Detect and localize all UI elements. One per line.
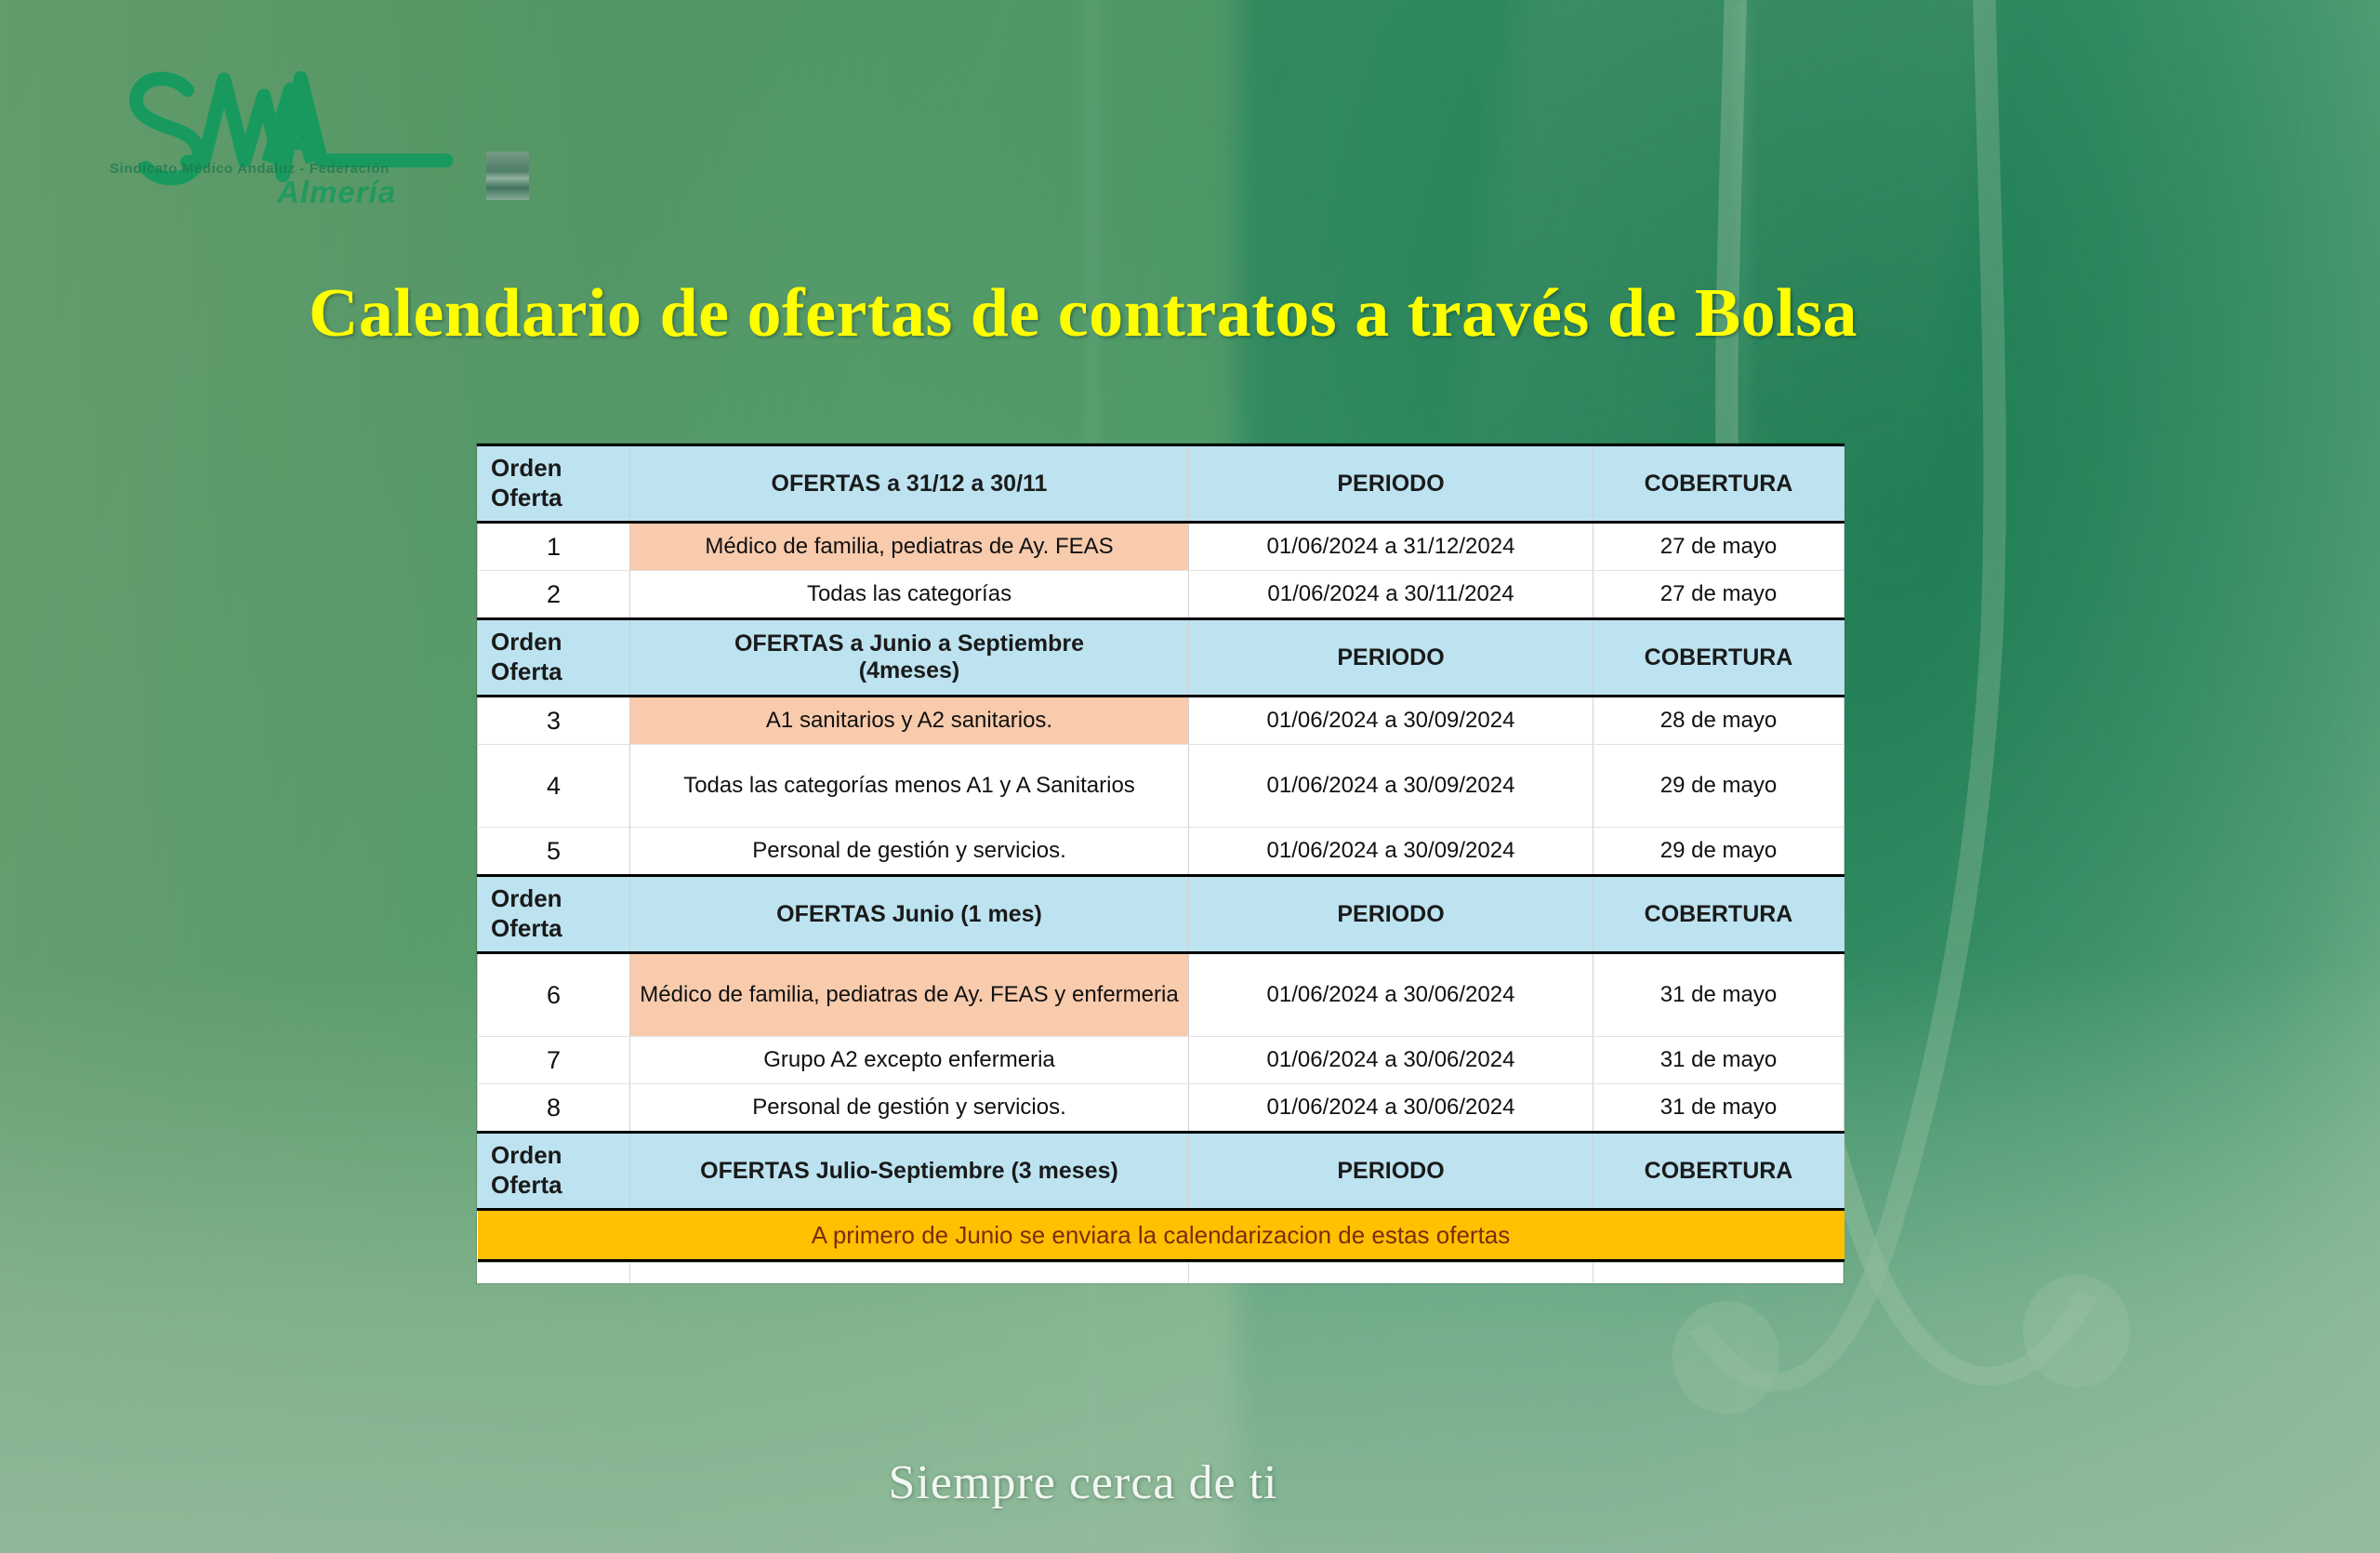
header-ofertas: OFERTAS Junio (1 mes): [630, 876, 1189, 953]
cell-periodo: 01/06/2024 a 30/06/2024: [1189, 953, 1593, 1037]
cell-oferta: Médico de familia, pediatras de Ay. FEAS: [630, 523, 1189, 571]
cell-cobertura: 29 de mayo: [1593, 745, 1844, 828]
notice-banner-text: A primero de Junio se enviara la calenda…: [478, 1210, 1844, 1261]
sma-logo: Sindicato Médico Andaluz - Federación Al…: [100, 51, 454, 214]
cell-oferta: Todas las categorías menos A1 y A Sanita…: [630, 745, 1189, 828]
orden-line1: Orden: [491, 884, 562, 912]
cell-oferta: Grupo A2 excepto enfermeria: [630, 1037, 1189, 1084]
table-bottom-strip: [477, 1262, 1844, 1283]
orden-line1: Orden: [491, 454, 562, 482]
table-row: 3 A1 sanitarios y A2 sanitarios. 01/06/2…: [478, 697, 1844, 745]
cell-orden: 6: [478, 953, 630, 1037]
cell-oferta: Personal de gestión y servicios.: [630, 1084, 1189, 1133]
header-ofertas: OFERTAS a 31/12 a 30/11: [630, 445, 1189, 523]
cell-orden: 8: [478, 1084, 630, 1133]
table-row: 8 Personal de gestión y servicios. 01/06…: [478, 1084, 1844, 1133]
table-row: 2 Todas las categorías 01/06/2024 a 30/1…: [478, 571, 1844, 619]
strip-cell: [477, 1263, 630, 1283]
section-header-row: Orden Oferta OFERTAS a 31/12 a 30/11 PER…: [478, 445, 1844, 523]
cell-periodo: 01/06/2024 a 31/12/2024: [1189, 523, 1593, 571]
orden-line1: Orden: [491, 628, 562, 656]
logo-city: Almería: [277, 175, 396, 210]
header-periodo: PERIODO: [1189, 876, 1593, 953]
table-row: 6 Médico de familia, pediatras de Ay. FE…: [478, 953, 1844, 1037]
notice-banner-row: A primero de Junio se enviara la calenda…: [478, 1210, 1844, 1261]
cell-cobertura: 27 de mayo: [1593, 571, 1844, 619]
cell-cobertura: 29 de mayo: [1593, 828, 1844, 876]
strip-cell: [1189, 1263, 1593, 1283]
footer-slogan: Siempre cerca de ti: [0, 1455, 2166, 1510]
table-row: 5 Personal de gestión y servicios. 01/06…: [478, 828, 1844, 876]
cell-orden: 5: [478, 828, 630, 876]
header-orden-oferta: Orden Oferta: [478, 1133, 630, 1210]
cell-oferta: Médico de familia, pediatras de Ay. FEAS…: [630, 953, 1189, 1037]
cell-cobertura: 31 de mayo: [1593, 953, 1844, 1037]
slide-canvas: Sindicato Médico Andaluz - Federación Al…: [0, 0, 2380, 1553]
cell-periodo: 01/06/2024 a 30/09/2024: [1189, 745, 1593, 828]
header-cobertura: COBERTURA: [1593, 619, 1844, 697]
header-periodo: PERIODO: [1189, 445, 1593, 523]
page-title: Calendario de ofertas de contratos a tra…: [0, 274, 2166, 353]
cell-periodo: 01/06/2024 a 30/11/2024: [1189, 571, 1593, 619]
cell-orden: 7: [478, 1037, 630, 1084]
header-cobertura: COBERTURA: [1593, 876, 1844, 953]
header-cobertura: COBERTURA: [1593, 445, 1844, 523]
cell-cobertura: 31 de mayo: [1593, 1084, 1844, 1133]
orden-line2: Oferta: [491, 914, 562, 942]
cell-cobertura: 28 de mayo: [1593, 697, 1844, 745]
header-orden-oferta: Orden Oferta: [478, 876, 630, 953]
cell-orden: 3: [478, 697, 630, 745]
header-ofertas-line1: OFERTAS a Junio a Septiembre: [734, 630, 1084, 657]
header-ofertas-line2: (4meses): [859, 657, 959, 684]
section-header-row: Orden Oferta OFERTAS Junio (1 mes) PERIO…: [478, 876, 1844, 953]
header-orden-oferta: Orden Oferta: [478, 619, 630, 697]
cell-orden: 2: [478, 571, 630, 619]
cell-oferta: A1 sanitarios y A2 sanitarios.: [630, 697, 1189, 745]
orden-line2: Oferta: [491, 657, 562, 685]
table-row: 4 Todas las categorías menos A1 y A Sani…: [478, 745, 1844, 828]
offers-table: Orden Oferta OFERTAS a 31/12 a 30/11 PER…: [477, 444, 1844, 1262]
cell-cobertura: 27 de mayo: [1593, 523, 1844, 571]
cell-periodo: 01/06/2024 a 30/09/2024: [1189, 697, 1593, 745]
header-ofertas: OFERTAS a Junio a Septiembre (4meses): [630, 619, 1189, 697]
cell-oferta: Todas las categorías: [630, 571, 1189, 619]
cell-cobertura: 31 de mayo: [1593, 1037, 1844, 1084]
cell-oferta: Personal de gestión y servicios.: [630, 828, 1189, 876]
header-cobertura: COBERTURA: [1593, 1133, 1844, 1210]
header-periodo: PERIODO: [1189, 619, 1593, 697]
strip-cell: [1593, 1263, 1844, 1283]
header-ofertas: OFERTAS Julio-Septiembre (3 meses): [630, 1133, 1189, 1210]
header-periodo: PERIODO: [1189, 1133, 1593, 1210]
cell-periodo: 01/06/2024 a 30/06/2024: [1189, 1084, 1593, 1133]
strip-cell: [630, 1263, 1189, 1283]
cell-periodo: 01/06/2024 a 30/06/2024: [1189, 1037, 1593, 1084]
logo-badge-icon: [486, 152, 529, 200]
cell-orden: 4: [478, 745, 630, 828]
offers-calendar-table: Orden Oferta OFERTAS a 31/12 a 30/11 PER…: [477, 444, 1844, 1283]
cell-orden: 1: [478, 523, 630, 571]
section-header-row: Orden Oferta OFERTAS a Junio a Septiembr…: [478, 619, 1844, 697]
table-row: 7 Grupo A2 excepto enfermeria 01/06/2024…: [478, 1037, 1844, 1084]
header-orden-oferta: Orden Oferta: [478, 445, 630, 523]
cell-periodo: 01/06/2024 a 30/09/2024: [1189, 828, 1593, 876]
orden-line1: Orden: [491, 1141, 562, 1169]
section-header-row: Orden Oferta OFERTAS Julio-Septiembre (3…: [478, 1133, 1844, 1210]
orden-line2: Oferta: [491, 1171, 562, 1199]
table-row: 1 Médico de familia, pediatras de Ay. FE…: [478, 523, 1844, 571]
orden-line2: Oferta: [491, 484, 562, 511]
